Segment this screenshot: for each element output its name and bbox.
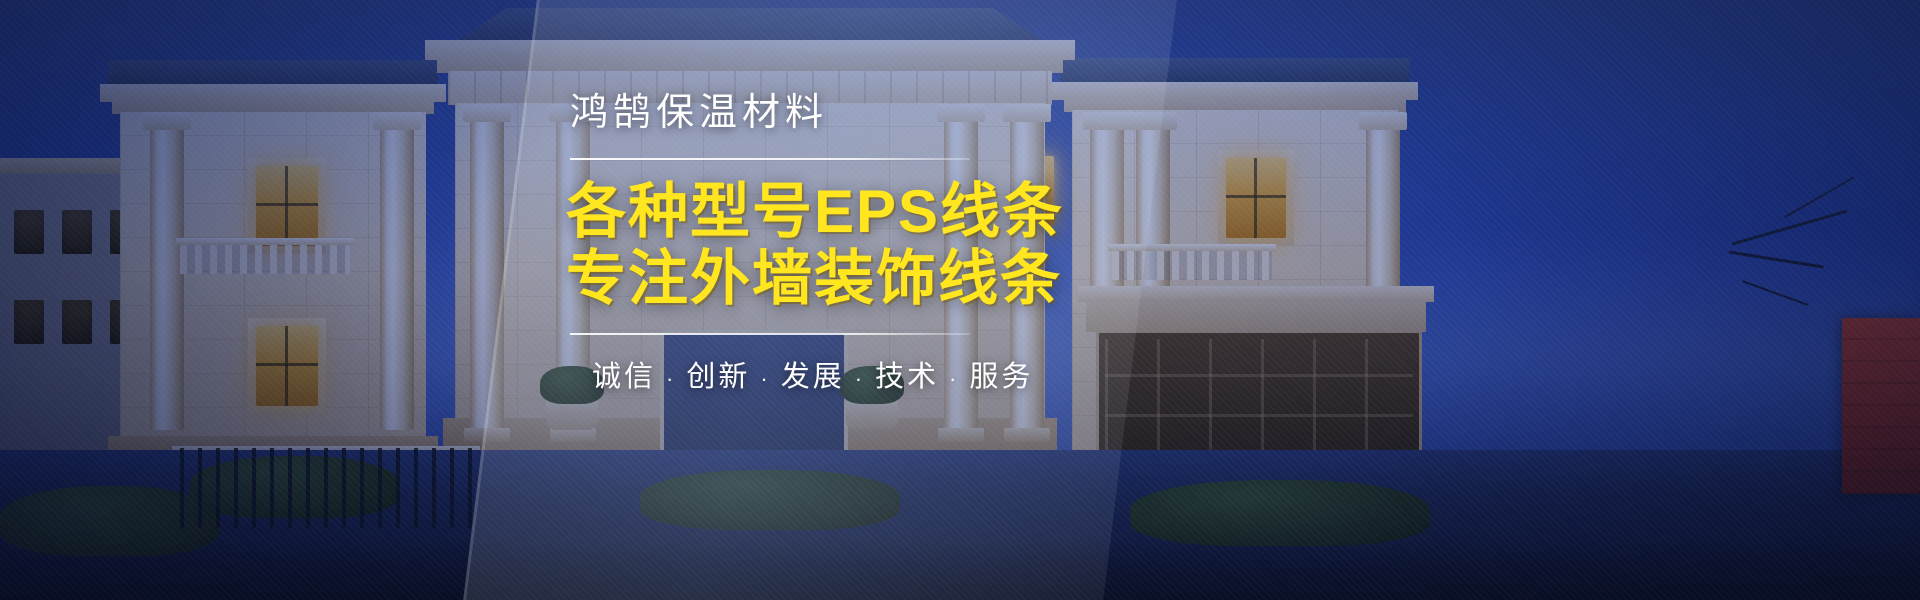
headline-line-1: 各种型号EPS线条 — [556, 178, 1436, 246]
tagline-item: 技术 — [875, 361, 939, 393]
tagline-separator: · — [845, 366, 875, 391]
tagline-item: 发展 — [781, 361, 845, 393]
tagline-item: 服务 — [969, 361, 1033, 393]
tagline-separator: · — [656, 366, 686, 391]
tagline-item: 创新 — [686, 361, 750, 393]
tagline-separator: · — [750, 366, 780, 391]
hero-banner: 鸿鹄保温材料 各种型号EPS线条 专注外墙装饰线条 诚信·创新·发展·技术·服务 — [0, 0, 1920, 600]
tagline-separator: · — [939, 366, 969, 391]
headline-line-2: 专注外墙装饰线条 — [556, 245, 1436, 313]
tagline: 诚信·创新·发展·技术·服务 — [556, 353, 1436, 395]
banner-copy: 鸿鹄保温材料 各种型号EPS线条 专注外墙装饰线条 诚信·创新·发展·技术·服务 — [556, 92, 1436, 395]
brand-name: 鸿鹄保温材料 — [556, 92, 1436, 136]
divider-top — [570, 158, 970, 160]
tagline-item: 诚信 — [592, 361, 656, 393]
divider-bottom — [570, 333, 970, 335]
